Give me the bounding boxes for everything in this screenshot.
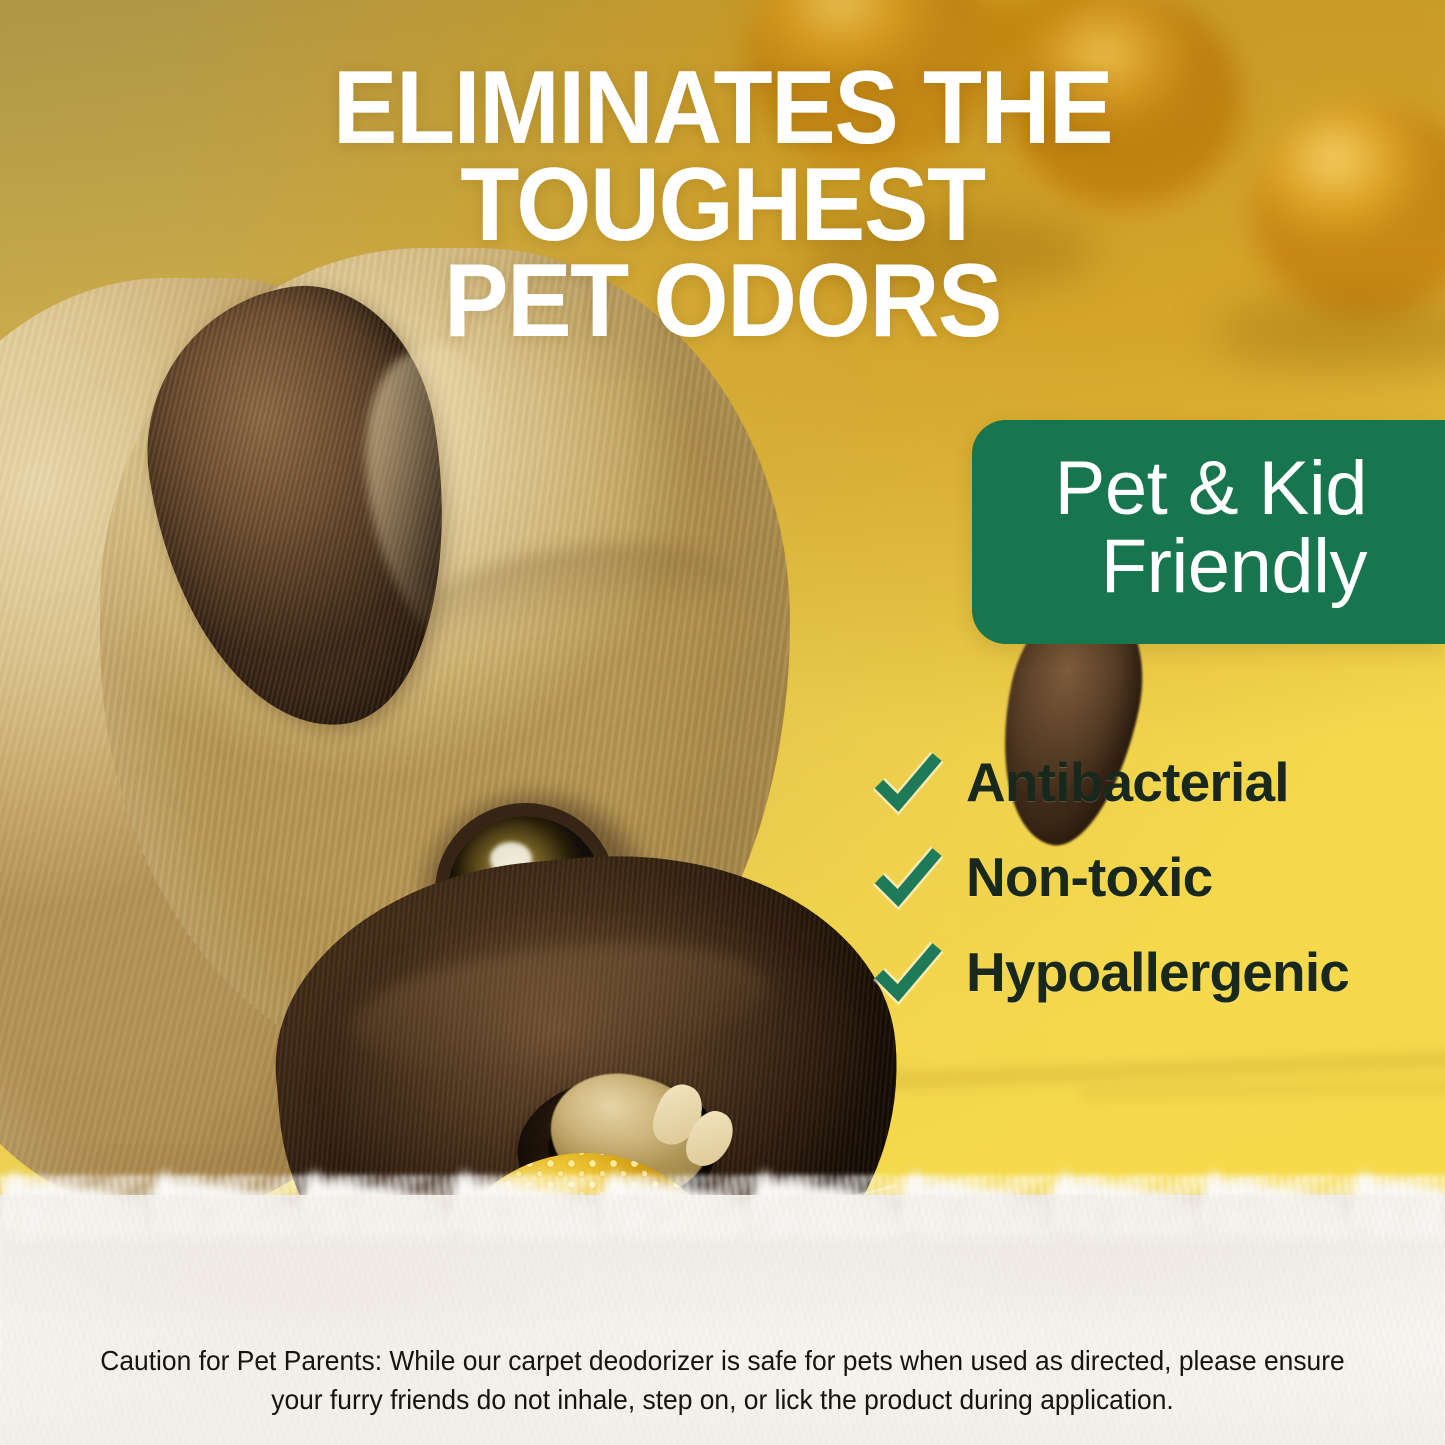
feature-label: Antibacterial <box>966 750 1289 814</box>
pug-dog <box>0 248 900 1258</box>
check-icon <box>872 936 944 1008</box>
caution-caption: Caution for Pet Parents: While our carpe… <box>29 1341 1416 1419</box>
product-banner: ELIMINATES THE TOUGHEST PET ODORS Pet & … <box>0 0 1445 1445</box>
list-item: Non-toxic <box>872 829 1445 924</box>
badge-label: Pet & Kid Friendly <box>1055 450 1367 605</box>
page-title: ELIMINATES THE TOUGHEST PET ODORS <box>51 60 1395 350</box>
pet-kid-friendly-badge: Pet & Kid Friendly <box>972 420 1445 644</box>
list-item: Hypoallergenic <box>872 924 1445 1019</box>
feature-label: Hypoallergenic <box>966 940 1349 1004</box>
feature-list: Antibacterial Non-toxic Hypoallergenic <box>872 734 1445 1019</box>
list-item: Antibacterial <box>872 734 1445 829</box>
check-icon <box>872 746 944 818</box>
feature-label: Non-toxic <box>966 845 1212 909</box>
check-icon <box>872 841 944 913</box>
